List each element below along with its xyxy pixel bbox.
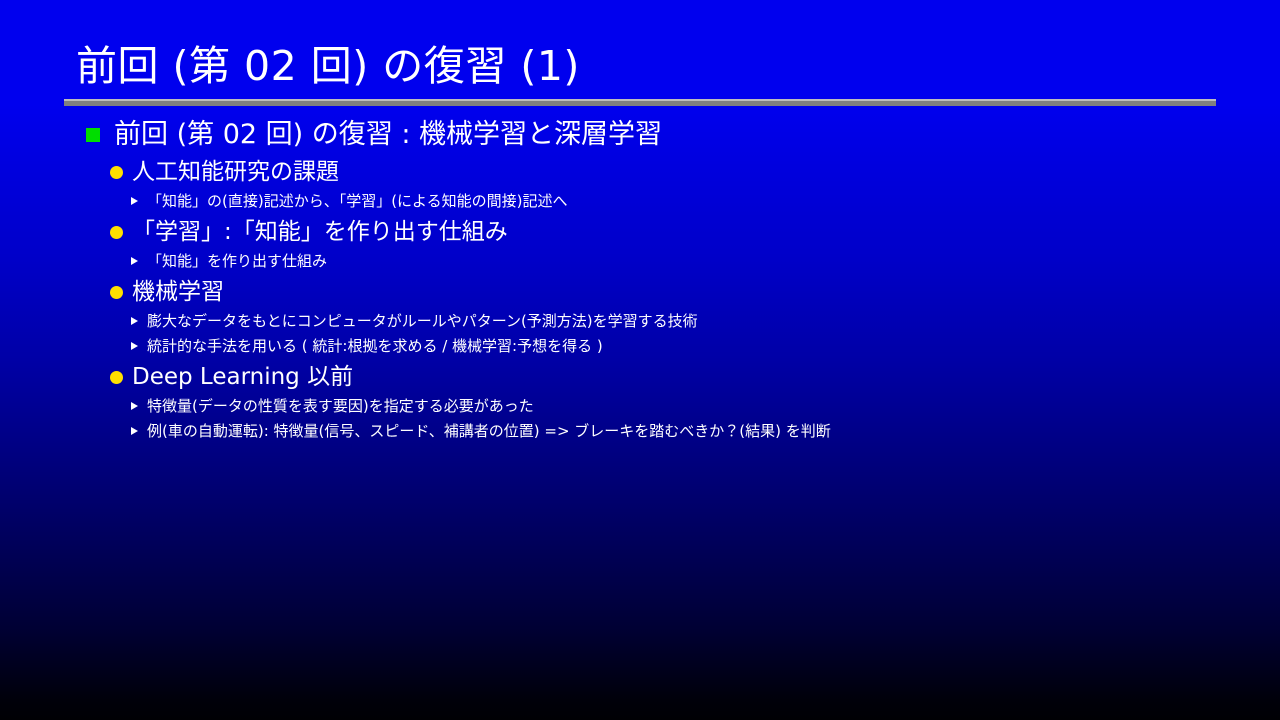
white-triangle-bullet [131, 317, 138, 325]
outline-item-label: 統計的な手法を用いる ( 統計:根拠を求める / 機械学習:予想を得る ) [147, 336, 603, 357]
outline-item-level3: 「知能」の(直接)記述から、「学習」(による知能の間接)記述へ [131, 191, 1280, 212]
yellow-disc-bullet [110, 371, 123, 384]
outline-item-label: 「知能」の(直接)記述から、「学習」(による知能の間接)記述へ [147, 191, 567, 212]
outline-item-level3: 特徴量(データの性質を表す要因)を指定する必要があった [131, 396, 1280, 417]
outline-item-level3: 例(車の自動運転): 特徴量(信号、スピード、補講者の位置) => ブレーキを踏… [131, 421, 1280, 442]
white-triangle-bullet [131, 197, 138, 205]
outline-item-label: 「学習」:「知能」を作り出す仕組み [132, 218, 508, 247]
yellow-disc-bullet [110, 226, 123, 239]
outline-item-level3: 統計的な手法を用いる ( 統計:根拠を求める / 機械学習:予想を得る ) [131, 336, 1280, 357]
slide-header: 前回 (第 02 回) の復習 (1) [0, 0, 1280, 108]
outline-item-level2: 「学習」:「知能」を作り出す仕組み [110, 218, 1280, 247]
outline-item-label: 前回 (第 02 回) の復習 : 機械学習と深層学習 [114, 118, 662, 152]
outline-item-label: 膨大なデータをもとにコンピュータがルールやパターン(予測方法)を学習する技術 [147, 311, 698, 332]
white-triangle-bullet [131, 427, 138, 435]
outline-item-level2: 人工知能研究の課題 [110, 158, 1280, 187]
outline-item-label: 人工知能研究の課題 [132, 158, 339, 187]
green-square-bullet [86, 128, 100, 142]
yellow-disc-bullet [110, 286, 123, 299]
page-title: 前回 (第 02 回) の復習 (1) [76, 46, 580, 87]
outline-item-level3: 膨大なデータをもとにコンピュータがルールやパターン(予測方法)を学習する技術 [131, 311, 1280, 332]
outline-item-label: 機械学習 [132, 278, 224, 307]
outline-item-level3: 「知能」を作り出す仕組み [131, 251, 1280, 272]
white-triangle-bullet [131, 402, 138, 410]
outline-item-label: Deep Learning 以前 [132, 363, 353, 392]
outline-item-level2: Deep Learning 以前 [110, 363, 1280, 392]
white-triangle-bullet [131, 342, 138, 350]
yellow-disc-bullet [110, 166, 123, 179]
slide-body: 前回 (第 02 回) の復習 : 機械学習と深層学習人工知能研究の課題「知能」… [0, 108, 1280, 720]
presentation-slide: 前回 (第 02 回) の復習 (1) 前回 (第 02 回) の復習 : 機械… [0, 0, 1280, 720]
outline-item-label: 「知能」を作り出す仕組み [147, 251, 327, 272]
title-divider [64, 99, 1216, 106]
outline-item-label: 例(車の自動運転): 特徴量(信号、スピード、補講者の位置) => ブレーキを踏… [147, 421, 831, 442]
outline-item-level1: 前回 (第 02 回) の復習 : 機械学習と深層学習 [86, 118, 1280, 152]
white-triangle-bullet [131, 257, 138, 265]
outline-item-label: 特徴量(データの性質を表す要因)を指定する必要があった [147, 396, 534, 417]
outline-item-level2: 機械学習 [110, 278, 1280, 307]
